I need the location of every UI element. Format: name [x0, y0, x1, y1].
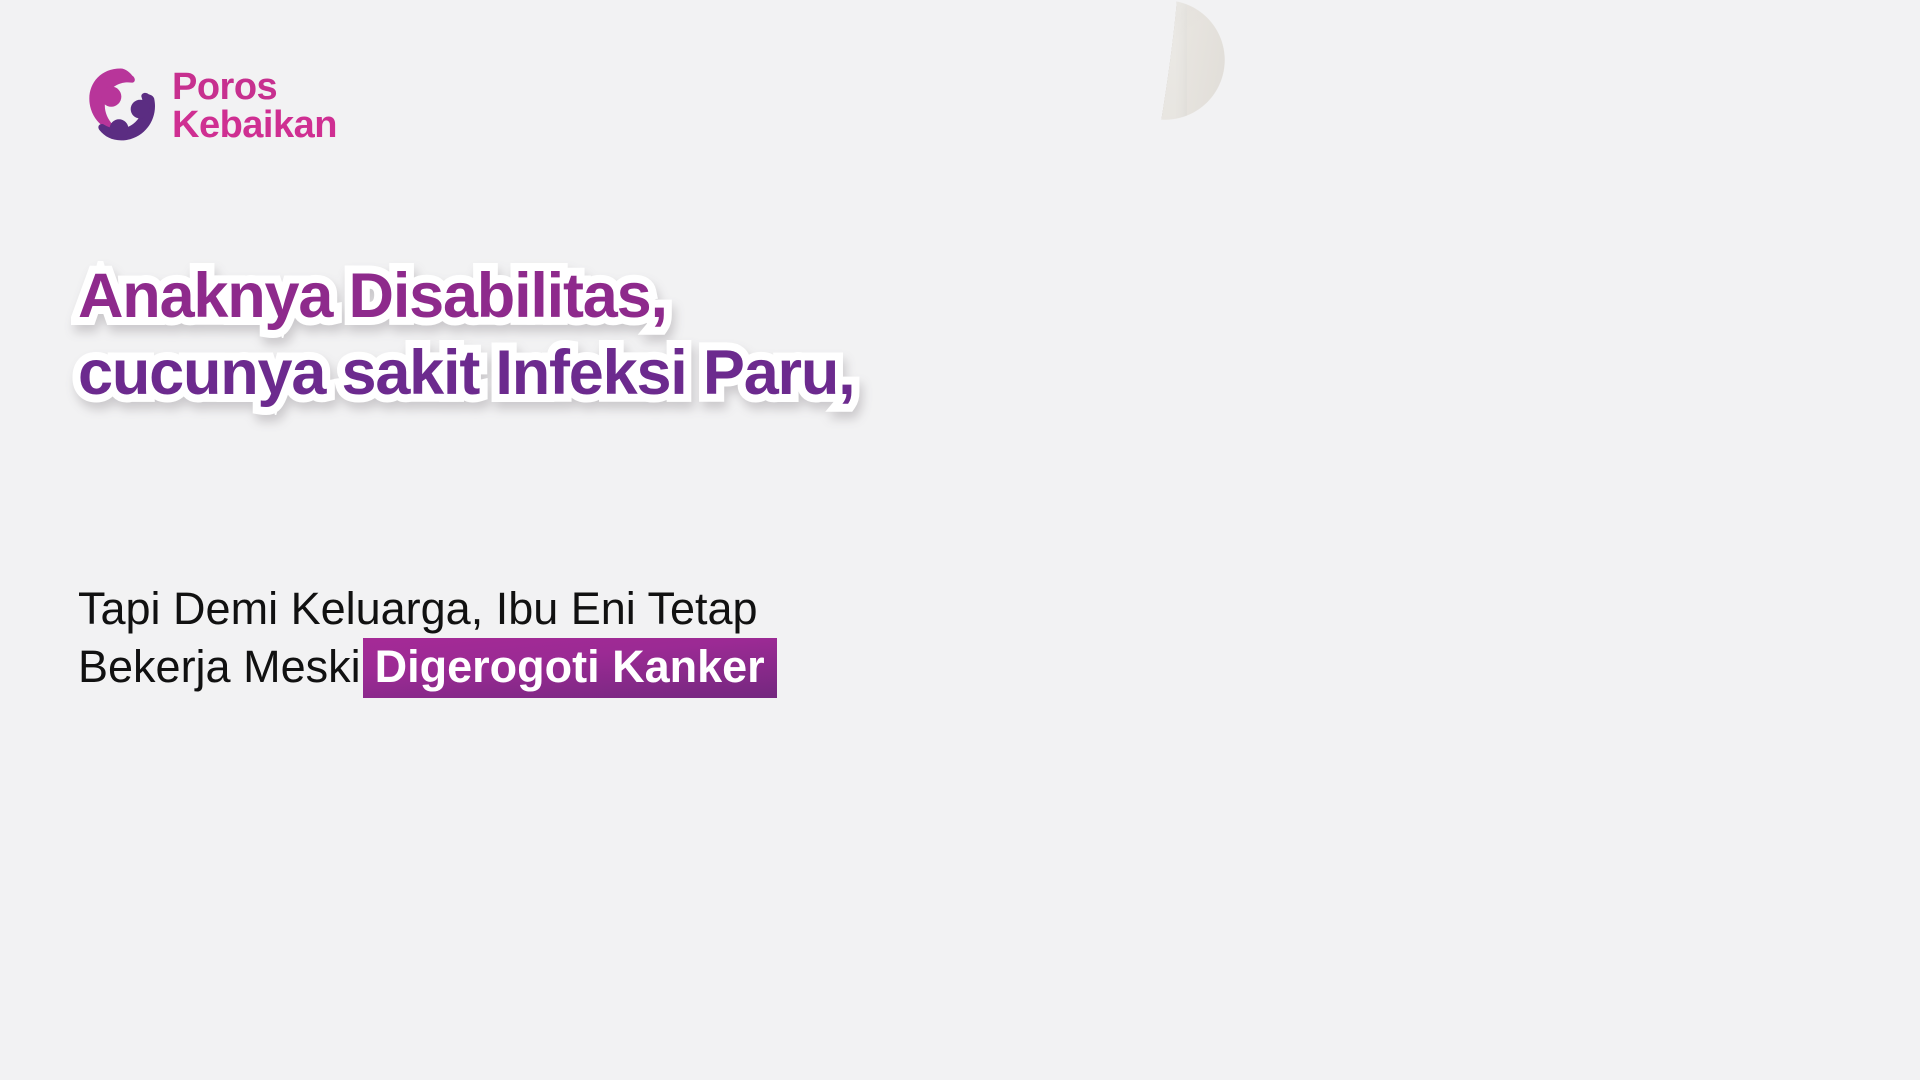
headline-line-1: Anaknya Disabilitas,	[78, 255, 908, 338]
subtitle-line-1: Tapi Demi Keluarga, Ibu Eni Tetap	[78, 580, 938, 638]
photo-clip	[1105, 0, 1920, 1080]
subtitle-line-2-prefix: Bekerja Meski	[78, 641, 361, 692]
photo-panel	[1105, 0, 1920, 1080]
brand-name-line1: Poros	[172, 68, 337, 106]
subtitle: Tapi Demi Keluarga, Ibu Eni Tetap Bekerj…	[78, 580, 938, 698]
poster-canvas: Poros Kebaikan Anaknya Disabilitas, cucu…	[0, 0, 1920, 1080]
hospital-bed-photo	[1105, 0, 1920, 1080]
poros-kebaikan-swirl-logo-icon	[80, 62, 158, 150]
brand-wordmark: Poros Kebaikan	[172, 68, 337, 144]
highlight-badge: Digerogoti Kanker	[363, 638, 777, 698]
headline: Anaknya Disabilitas, cucunya sakit Infek…	[78, 255, 908, 415]
brand-logo[interactable]: Poros Kebaikan	[80, 62, 337, 150]
headline-line-2: cucunya sakit Infeksi Paru,	[78, 332, 908, 415]
photo-vignette	[1105, 0, 1920, 1080]
brand-name-line2: Kebaikan	[172, 106, 337, 144]
subtitle-line-2: Bekerja MeskiDigerogoti Kanker	[78, 638, 938, 698]
